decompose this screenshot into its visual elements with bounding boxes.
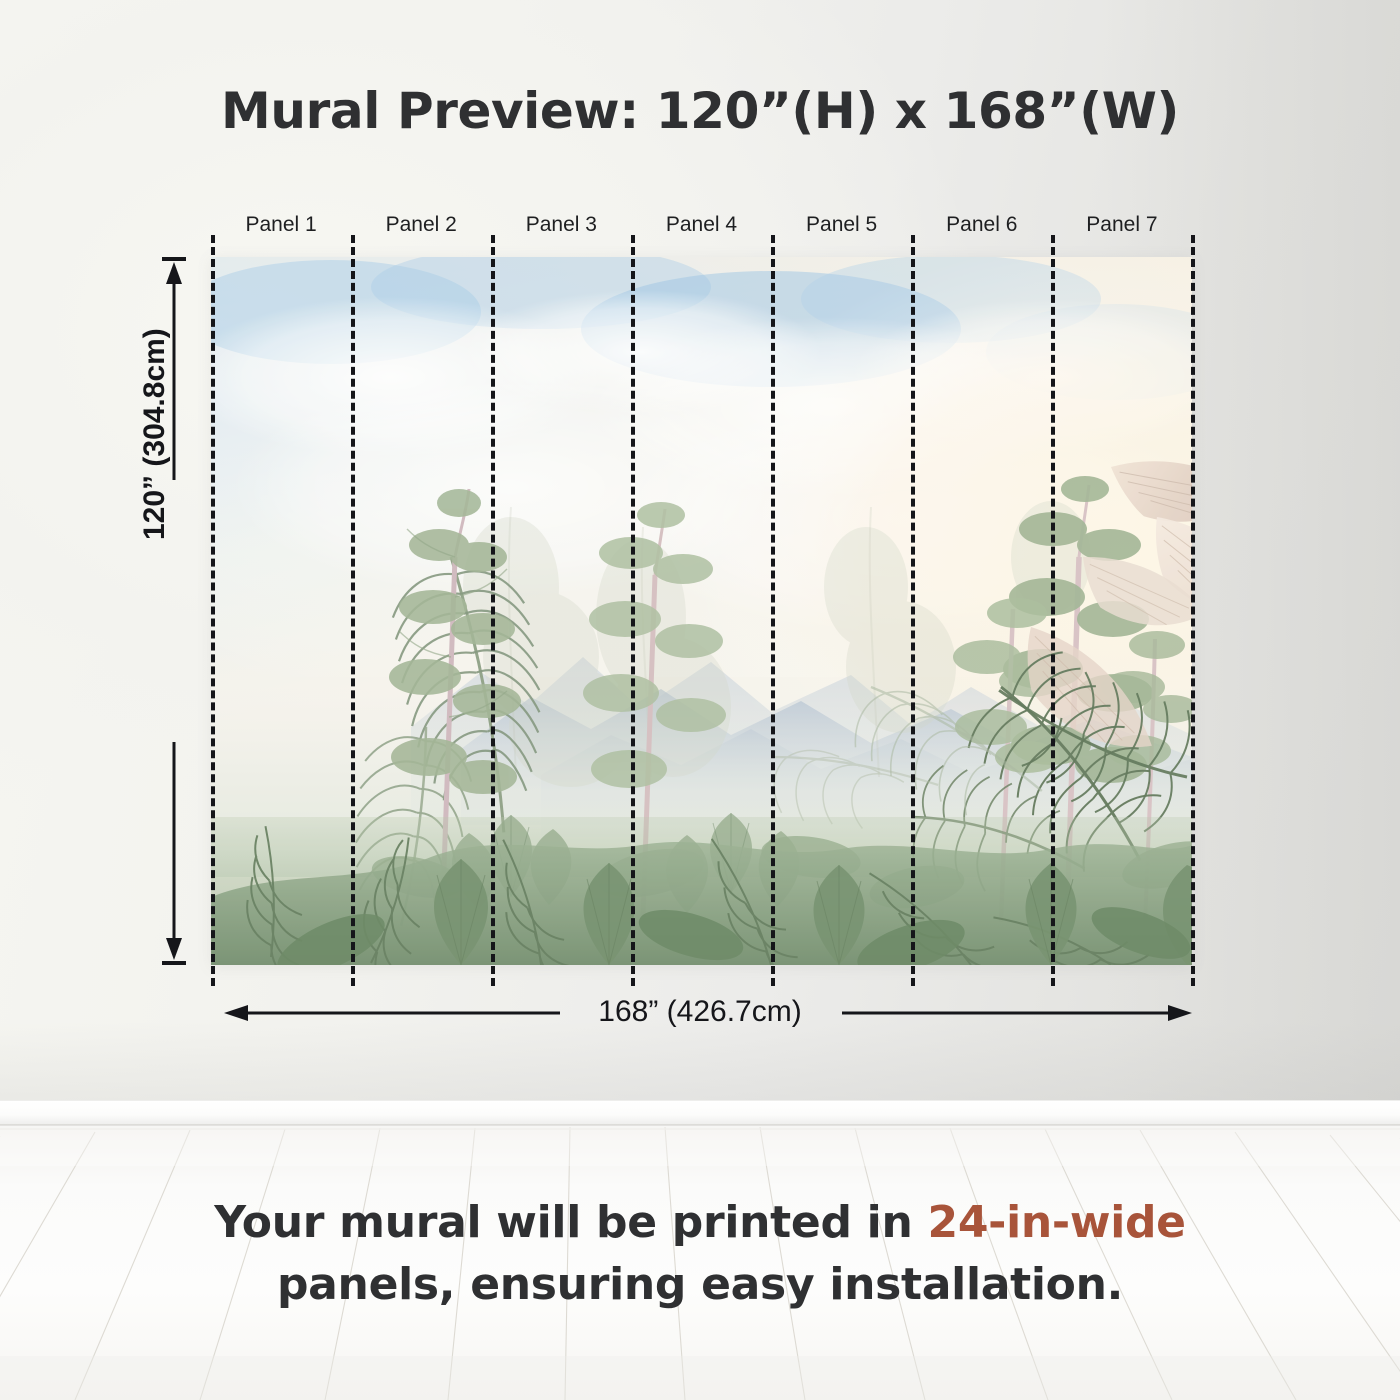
caption-line-1: Your mural will be printed in 24-in-wide (0, 1192, 1400, 1254)
width-dimension-label: 168” (426.7cm) (0, 995, 1400, 1029)
wall-shadow-bottom (0, 1022, 1400, 1112)
mural-artwork[interactable] (211, 257, 1192, 965)
panel-label-4: Panel 4 (631, 211, 771, 239)
panel-label-row: Panel 1 Panel 2 Panel 3 Panel 4 Panel 5 … (211, 211, 1192, 239)
height-dimension-label: 120” (304.8cm) (138, 240, 172, 540)
baseboard-trim (0, 1100, 1400, 1126)
panel-label-7: Panel 7 (1052, 211, 1192, 239)
caption-line-2: panels, ensuring easy installation. (0, 1254, 1400, 1316)
panel-label-1: Panel 1 (211, 211, 351, 239)
mural-preview-page: Mural Preview: 120”(H) x 168”(W) Panel 1… (0, 0, 1400, 1400)
panel-label-6: Panel 6 (912, 211, 1052, 239)
footer-caption: Your mural will be printed in 24-in-wide… (0, 1192, 1400, 1316)
caption-text-before: Your mural will be printed in (214, 1197, 927, 1248)
panel-label-2: Panel 2 (351, 211, 491, 239)
panel-label-5: Panel 5 (772, 211, 912, 239)
panel-label-3: Panel 3 (491, 211, 631, 239)
page-title: Mural Preview: 120”(H) x 168”(W) (0, 82, 1400, 140)
caption-accent-highlight: 24-in-wide (928, 1197, 1186, 1248)
